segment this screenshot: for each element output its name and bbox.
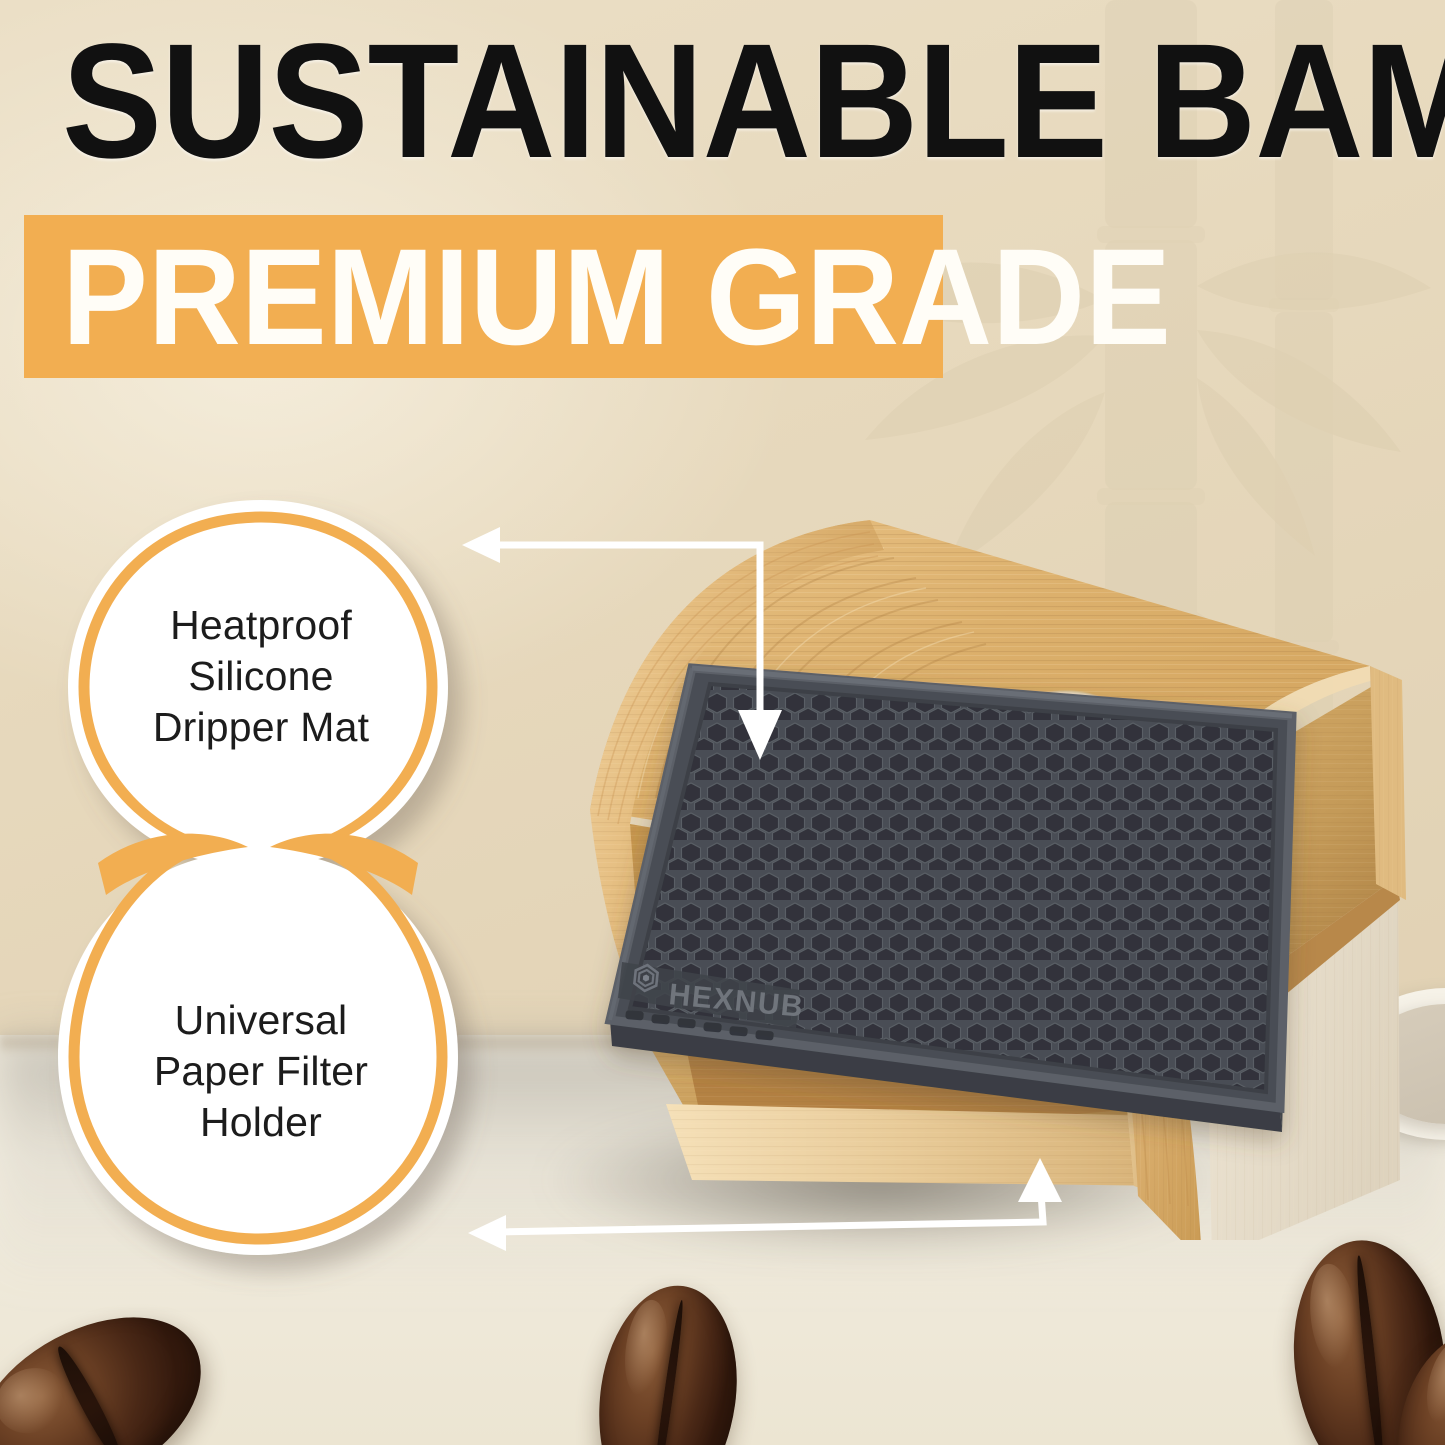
callout-label-dripper-mat: Heatproof Silicone Dripper Mat [96, 600, 426, 753]
callout-group: Heatproof Silicone Dripper Mat Universal… [18, 455, 518, 1305]
bamboo-coffee-filter-holder-illustration: HEXNUB [470, 480, 1430, 1240]
product-marketing-image: SUSTAINABLE BAMBOO PREMIUM GRADE [0, 0, 1445, 1445]
page-subtitle: PREMIUM GRADE [62, 228, 870, 368]
holder-bottom-lip [666, 1104, 1176, 1186]
product-image: HEXNUB [470, 480, 1430, 1240]
callout-bubbles-shape [18, 455, 518, 1305]
callout-label-filter-holder: Universal Paper Filter Holder [96, 995, 426, 1148]
page-title: SUSTAINABLE BAMBOO [62, 26, 1249, 176]
